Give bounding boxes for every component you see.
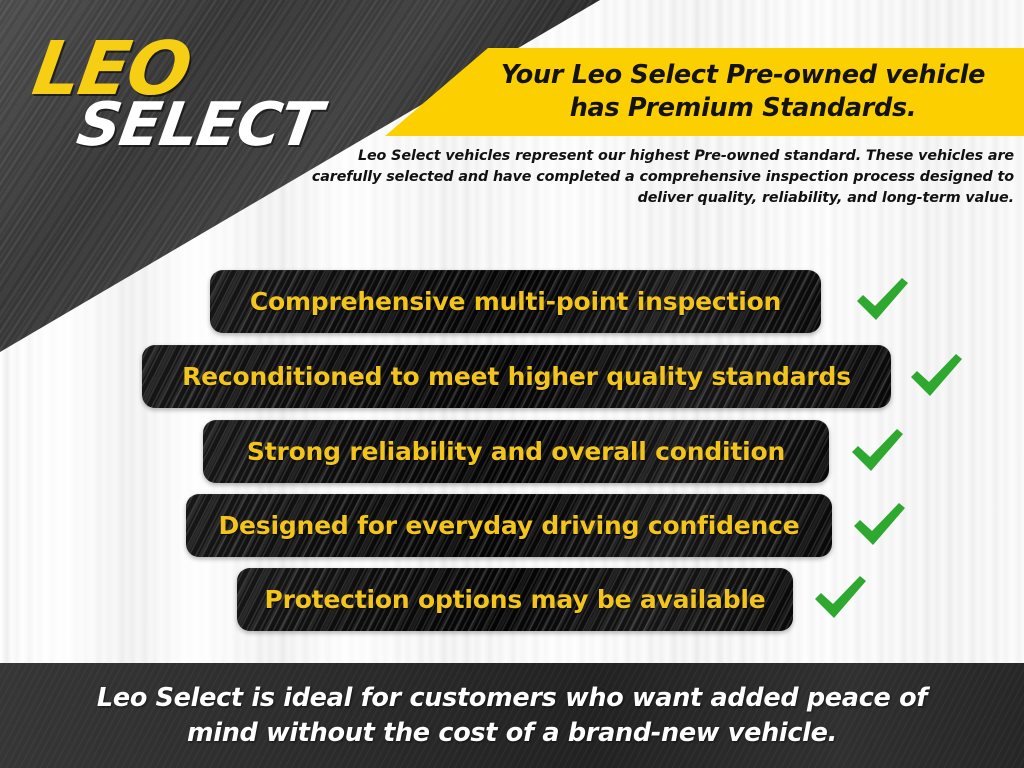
feature-pill: Protection options may be available	[237, 568, 793, 631]
footer-text: Leo Select is ideal for customers who wa…	[52, 681, 972, 750]
feature-label: Protection options may be available	[264, 585, 765, 614]
check-icon	[907, 351, 965, 399]
footer-line-1: Leo Select is ideal for customers who wa…	[97, 683, 927, 713]
check-icon	[811, 573, 869, 621]
feature-pill: Comprehensive multi-point inspection	[210, 270, 821, 333]
check-icon	[848, 426, 906, 474]
feature-list: Comprehensive multi-point inspection Rec…	[0, 0, 1024, 768]
feature-row: Comprehensive multi-point inspection	[210, 270, 1024, 333]
feature-row: Strong reliability and overall condition	[203, 420, 1024, 483]
promo-banner-canvas: LEO SELECT Your Leo Select Pre-owned veh…	[0, 0, 1024, 768]
feature-row: Designed for everyday driving confidence	[186, 494, 1024, 557]
feature-row: Reconditioned to meet higher quality sta…	[142, 345, 1024, 408]
feature-pill: Reconditioned to meet higher quality sta…	[142, 345, 891, 408]
feature-pill: Strong reliability and overall condition	[203, 420, 829, 483]
feature-label: Strong reliability and overall condition	[247, 437, 785, 466]
feature-pill: Designed for everyday driving confidence	[186, 494, 832, 557]
check-icon	[850, 500, 908, 548]
footer-bar: Leo Select is ideal for customers who wa…	[0, 663, 1024, 768]
feature-label: Comprehensive multi-point inspection	[250, 287, 781, 316]
feature-row: Protection options may be available	[237, 568, 1024, 631]
feature-label: Designed for everyday driving confidence	[218, 511, 799, 540]
check-icon	[853, 275, 911, 323]
feature-label: Reconditioned to meet higher quality sta…	[182, 362, 851, 391]
footer-line-2: mind without the cost of a brand-new veh…	[187, 718, 837, 748]
